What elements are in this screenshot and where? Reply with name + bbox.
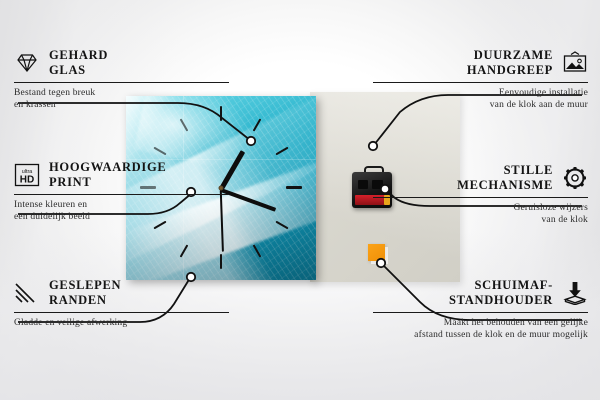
feature-hoogwaardige-print: ultra HD HOOGWAARDIGE PRINT Intense kleu… xyxy=(14,160,229,223)
feature-title: GESLEPEN RANDEN xyxy=(49,278,121,308)
gear-icon xyxy=(562,166,588,190)
feature-title: GEHARD GLAS xyxy=(49,48,108,78)
feature-description: Bestand tegen breuk en krassen xyxy=(14,88,229,111)
feature-divider xyxy=(14,312,229,313)
hour-tick-6 xyxy=(220,254,222,269)
feature-title: SCHUIMAF- STANDHOUDER xyxy=(449,278,553,308)
feature-description: Maakt het behouden van een gelijke afsta… xyxy=(373,318,588,341)
diamond-icon xyxy=(14,51,40,75)
feature-divider xyxy=(373,82,588,83)
bevelled-edges-icon xyxy=(14,281,40,305)
ultra-hd-icon-bottom-text: HD xyxy=(20,175,34,186)
feature-divider xyxy=(373,197,588,198)
feature-description: Geruisloze wijzers van de klok xyxy=(373,203,588,226)
feature-divider xyxy=(14,82,229,83)
press-down-pad-icon xyxy=(562,281,588,305)
hour-tick-3 xyxy=(286,186,302,189)
feature-description: Gladde en veilige afwerking xyxy=(14,318,229,330)
feature-title: HOOGWAARDIGE PRINT xyxy=(49,160,166,190)
picture-frame-icon xyxy=(562,51,588,75)
feature-divider xyxy=(14,194,229,195)
feature-divider xyxy=(373,312,588,313)
mechanism-slot-left xyxy=(358,180,368,189)
foam-spacer-pad xyxy=(368,244,385,261)
feature-description: Intense kleuren en een duidelijk beeld xyxy=(14,200,229,223)
feature-geslepen-randen: GESLEPEN RANDEN Gladde en veilige afwerk… xyxy=(14,278,229,330)
feature-description: Eenvoudige installatie van de klok aan d… xyxy=(373,88,588,111)
feature-gehard-glas: GEHARD GLAS Bestand tegen breuk en krass… xyxy=(14,48,229,111)
ultra-hd-icon: ultra HD xyxy=(14,163,40,187)
product-infographic: GEHARD GLAS Bestand tegen breuk en krass… xyxy=(0,0,600,400)
feature-title: DUURZAME HANDGREEP xyxy=(467,48,553,78)
feature-stille-mechanisme: STILLE MECHANISME xyxy=(373,163,588,226)
feature-duurzame-handgreep: DUURZAME HANDGREEP Eenvoudige installati… xyxy=(373,48,588,111)
feature-schuimafstandhouder: SCHUIMAF- STANDHOUDER Maakt het behouden… xyxy=(373,278,588,341)
feature-title: STILLE MECHANISME xyxy=(457,163,553,193)
